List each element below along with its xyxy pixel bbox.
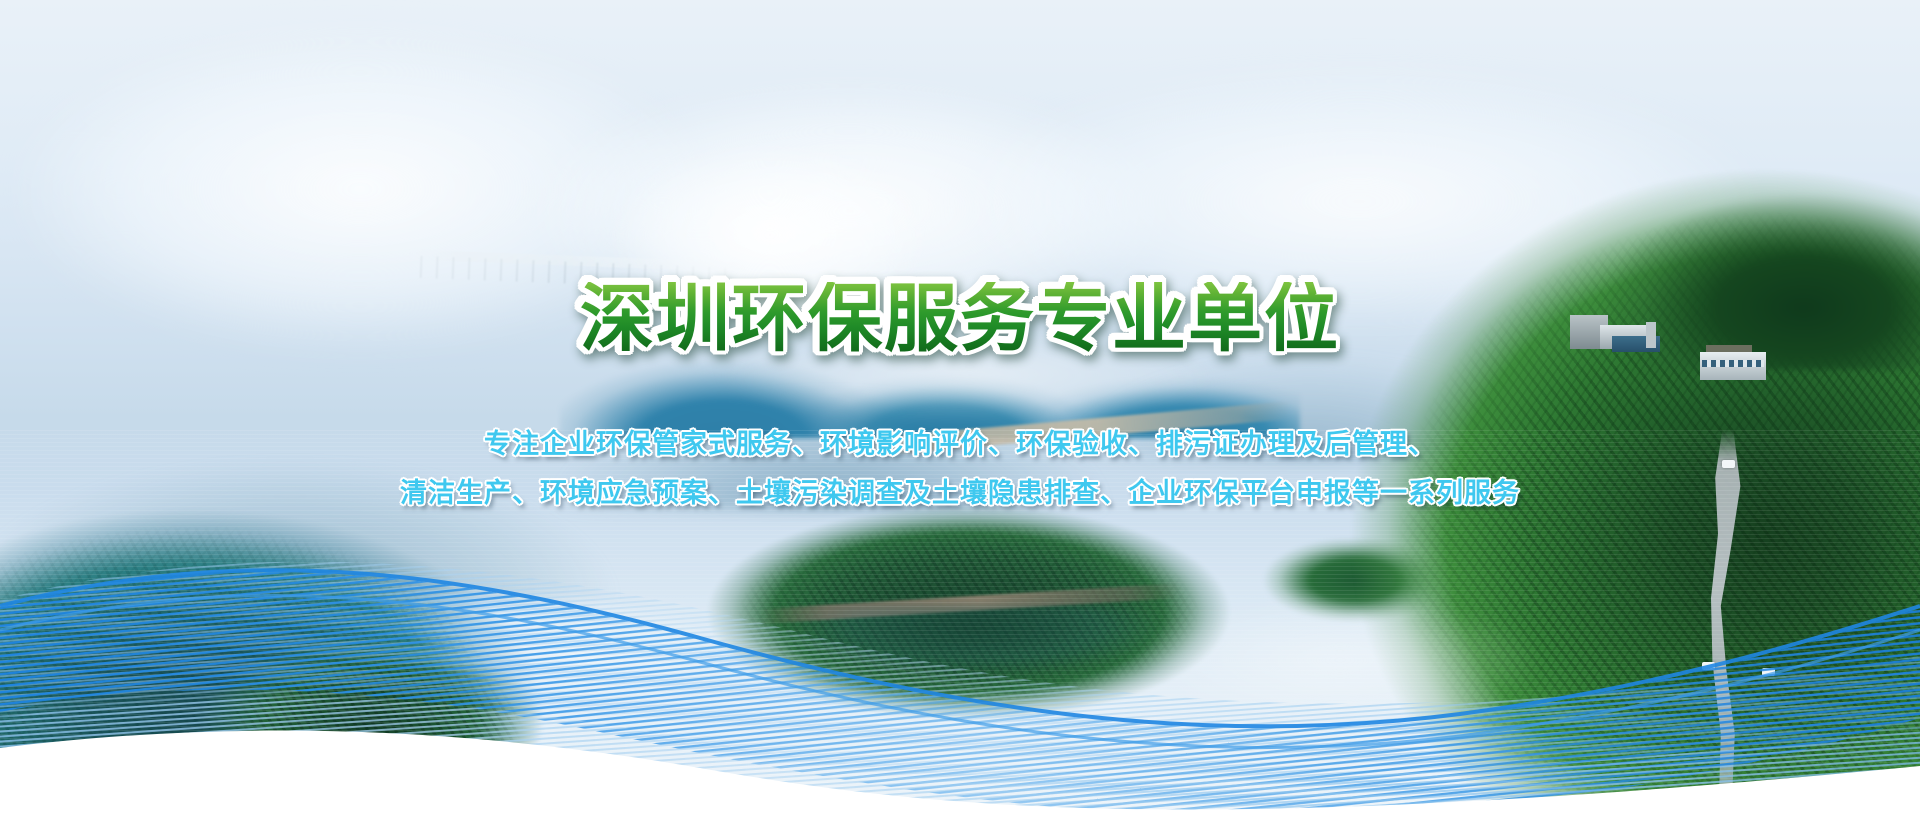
hillside-building-windows [1702, 360, 1764, 367]
hillside-tower [1646, 322, 1656, 348]
water-highlight-upper [620, 300, 1320, 450]
water-highlight-left [330, 560, 850, 740]
background-photo [0, 0, 1920, 840]
water-highlight-right [1060, 560, 1620, 760]
water-shimmer [0, 430, 1920, 840]
hero-banner: 深圳环保服务专业单位 专注企业环保管家式服务、环境影响评价、环保验收、排污证办理… [0, 0, 1920, 840]
